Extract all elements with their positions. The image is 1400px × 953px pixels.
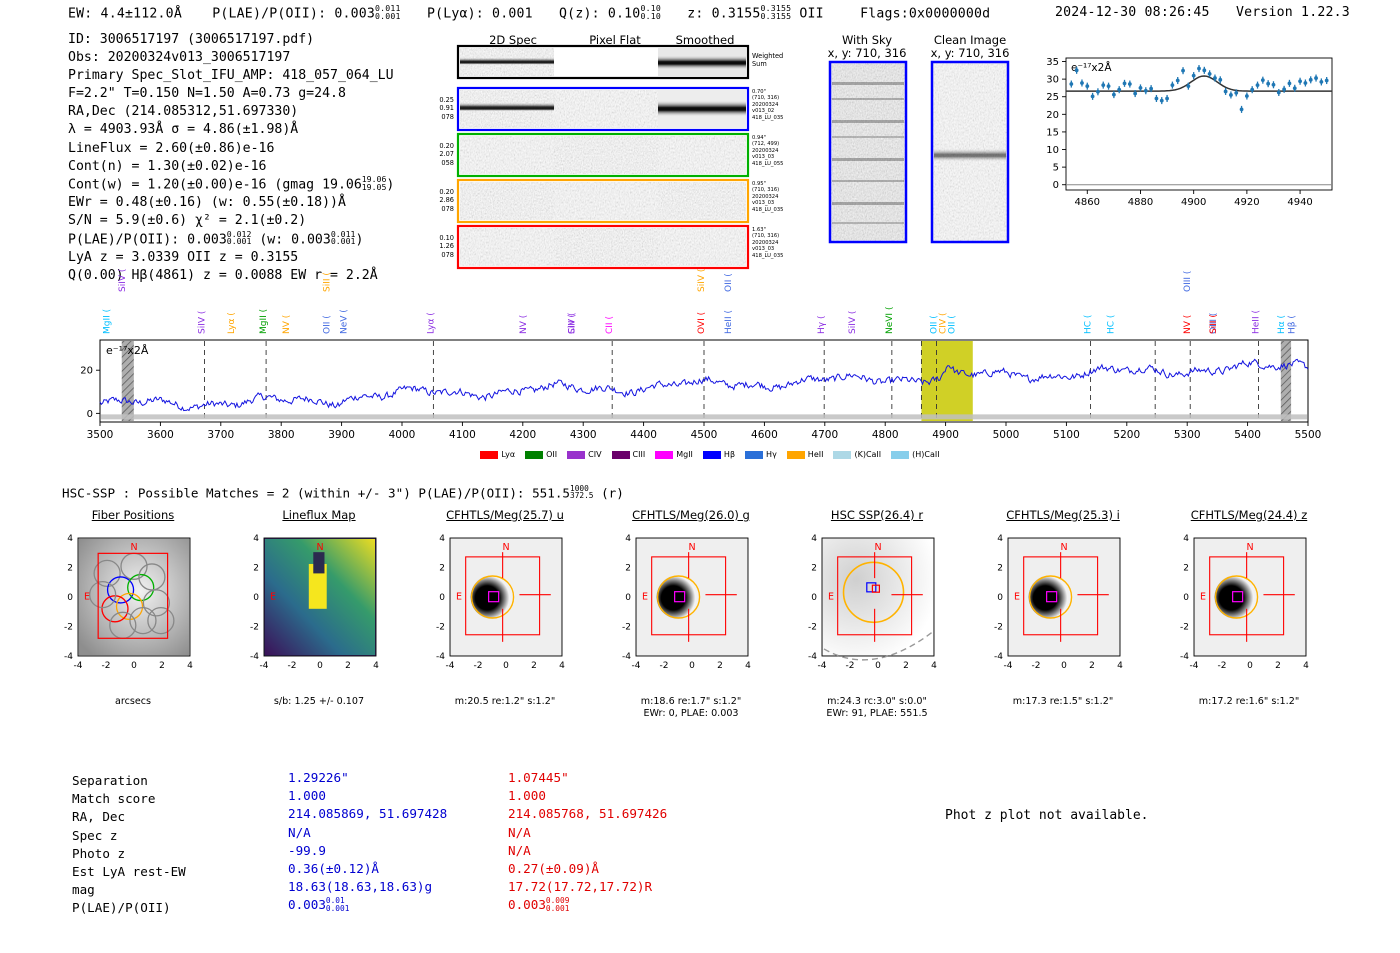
svg-text:4: 4 [559,661,565,671]
svg-text:-4: -4 [1180,652,1189,662]
cutout-panel: Lineflux MapNE-4-4-2-2002244s/b: 1.25 +/… [226,508,412,708]
legend-item: Lyα [480,450,515,459]
legend-label: Hγ [766,450,777,459]
svg-text:-4: -4 [64,652,73,662]
compass-e-label: E [456,591,462,602]
cutout-panel: HSC SSP(26.4) rNE-4-4-2-2002244m:24.3 rc… [784,508,970,720]
cutout-panel: CFHTLS/Meg(25.7) uNE-4-4-2-2002244m:20.5… [412,508,598,708]
svg-text:4300: 4300 [570,429,597,441]
svg-text:0: 0 [439,593,445,603]
legend-label: Lyα [501,450,515,459]
svg-text:4900: 4900 [1181,197,1206,208]
svg-text:-2: -2 [846,661,855,671]
svg-text:-2: -2 [102,661,111,671]
svg-text:4: 4 [625,534,631,544]
svg-text:-2: -2 [474,661,483,671]
svg-text:4: 4 [1117,661,1123,671]
legend-item: HeII [787,450,824,459]
row1-left-1: 2.07 [428,150,454,158]
svg-text:0: 0 [253,593,259,603]
svg-text:2: 2 [531,661,537,671]
svg-text:4600: 4600 [751,429,778,441]
match-label-2: RA, Dec [72,808,186,826]
row1-right-1: (712, 499) [752,141,783,147]
spec2d-right-labels-0: 0.70" (710, 316) 20200324 v013_02 418_LU… [752,89,783,121]
info-plae: P(LAE)/P(OII): 0.0030.0120.001 (w: 0.003… [68,231,394,250]
header-version: Version 1.22.3 [1236,5,1350,20]
legend-item: MgII [655,450,693,459]
info-cont-w-pre: Cont(w) = 1.20(±0.00)e-16 (gmag 19.06 [68,177,362,192]
svg-text:4000: 4000 [389,429,416,441]
line-fit-inset-chart: 0510152025303548604880490049204940e⁻¹⁷x2… [1032,50,1340,228]
row1-left-2: 058 [428,159,454,167]
svg-text:5200: 5200 [1113,429,1140,441]
info-line-2: Primary Spec_Slot_IFU_AMP: 418_057_064_L… [68,67,394,85]
hscssp-post: (r) [601,485,624,500]
emission-label: NeVI ( [885,307,895,334]
svg-text:2: 2 [903,661,909,671]
svg-text:-2: -2 [994,623,1003,633]
svg-text:4900: 4900 [932,429,959,441]
match-label-0: Separation [72,772,186,790]
svg-text:-4: -4 [632,661,641,671]
emission-label: Hβ ( [1288,315,1298,334]
withsky-image [830,62,906,242]
row2-left-1: 2.86 [428,196,454,204]
svg-text:4: 4 [997,534,1003,544]
emission-label: MgII ( [259,309,269,334]
photoz-note: Phot z plot not available. [945,808,1149,823]
svg-text:0: 0 [875,661,881,671]
svg-text:4: 4 [187,661,193,671]
svg-text:-2: -2 [660,661,669,671]
svg-text:3600: 3600 [147,429,174,441]
info-line-6: LineFlux = 2.60(±0.86)e-16 [68,140,394,158]
header-plae-label: P(LAE)/P(OII): 0.003 [212,7,375,22]
svg-text:-2: -2 [808,623,817,633]
svg-text:-4: -4 [250,652,259,662]
spec2d-row-2 [458,180,748,222]
legend-label: MgII [676,450,693,459]
info-cont-w-lo: 19.05 [362,182,387,192]
withsky-subtitle: x, y: 710, 316 [822,46,912,60]
cutout-title: CFHTLS/Meg(25.7) u [412,508,598,524]
legend-item: (H)CaII [891,450,939,459]
svg-text:-4: -4 [1190,661,1199,671]
match1-value-4: -99.9 [288,842,447,860]
legend-swatch [612,451,630,459]
svg-text:4860: 4860 [1075,197,1100,208]
legend-label: (K)CaII [854,450,881,459]
emission-label: OII ( [323,315,333,334]
row0-left-2: 078 [428,113,454,121]
info-cont-w-post: ) [386,177,394,192]
svg-text:-2: -2 [436,623,445,633]
row0-left-0: 0.25 [428,96,454,104]
compass-n-label: N [1060,542,1067,553]
cutout-panel-row: Fiber PositionsNE-4-4-2-2002244arcsecsLi… [40,508,1370,738]
info-ewr: EWr = 0.48(±0.16) (w: 0.55(±0.18))Å [68,194,394,212]
cutout-title: Lineflux Map [226,508,412,524]
svg-text:4: 4 [439,534,445,544]
svg-text:4100: 4100 [449,429,476,441]
svg-text:4: 4 [1183,534,1189,544]
svg-text:30: 30 [1046,75,1059,86]
spec2d-row-weighted [458,46,748,78]
svg-text:2: 2 [1275,661,1281,671]
match2-value-7: 0.0030.0090.001 [508,896,667,914]
cutout-caption-2: EWr: 91, PLAE: 551.5 [784,708,970,720]
match2-value-4: N/A [508,842,667,860]
svg-text:2: 2 [997,564,1003,574]
emission-label: CII ( [605,316,615,334]
row2-left-0: 0.20 [428,188,454,196]
svg-text:0: 0 [1053,180,1059,191]
info-cont-w: Cont(w) = 1.20(±0.00)e-16 (gmag 19.0619.… [68,176,394,195]
match2-value-3: N/A [508,824,667,842]
spec2d-right-labels-2: 0.95" (710, 316) 20200324 v013_03 418_LU… [752,181,783,213]
svg-text:0: 0 [317,661,323,671]
svg-text:e⁻¹⁷x2Å: e⁻¹⁷x2Å [106,344,149,357]
legend-swatch [655,451,673,459]
match2-value-1: 1.000 [508,787,667,805]
match1-value-6: 18.63(18.63,18.63)g [288,878,447,896]
legend-swatch [480,451,498,459]
legend-item: OII [525,450,557,459]
row0-right-4: 418_LU_035 [752,115,783,121]
info-line-7: Cont(n) = 1.30(±0.02)e-16 [68,158,394,176]
cutout-caption-1: arcsecs [40,696,226,708]
row3-left-0: 0.10 [428,234,454,242]
cutout-title: CFHTLS/Meg(24.4) z [1156,508,1342,524]
legend-label: HeII [808,450,824,459]
svg-text:2: 2 [717,661,723,671]
svg-text:-4: -4 [260,661,269,671]
header-ew: EW: 4.4±112.0Å [68,7,182,22]
svg-text:35: 35 [1046,57,1059,68]
info-line-5: λ = 4903.93Å σ = 4.86(±1.98)Å [68,121,394,139]
cleanimage-title: Clean Image [925,33,1015,47]
spec2d-row-3 [458,226,748,268]
svg-text:5: 5 [1053,163,1059,174]
svg-text:-4: -4 [818,661,827,671]
emission-label: SiIV ( [848,311,858,334]
svg-text:10: 10 [1046,145,1059,156]
legend-swatch [891,451,909,459]
withsky-title: With Sky [822,33,912,47]
info-zline: LyA z = 3.0339 OII z = 0.3155 [68,249,394,267]
row3-right-1: (710, 316) [752,233,783,239]
header-z-line: OII [799,7,823,22]
cutout-title: HSC SSP(26.4) r [784,508,970,524]
header-z-label: z: 0.3155 [687,7,760,22]
svg-text:-2: -2 [250,623,259,633]
weighted-sum-line-0: Weighted [752,52,783,60]
header-timestamp: 2024-12-30 08:26:45 Version 1.22.3 [1055,5,1350,20]
object-info-block: ID: 3006517197 (3006517197.pdf) Obs: 202… [68,31,394,285]
header-z-lo: 0.3155 [760,11,791,21]
svg-text:3900: 3900 [328,429,355,441]
emission-label: NeV ( [339,309,349,334]
row2-left-2: 078 [428,205,454,213]
row3-left-2: 078 [428,251,454,259]
compass-e-label: E [1200,591,1206,602]
svg-text:0: 0 [503,661,509,671]
info-line-4: RA,Dec (214.085312,51.697330) [68,103,394,121]
svg-text:-2: -2 [622,623,631,633]
cutout-title: CFHTLS/Meg(26.0) g [598,508,784,524]
svg-text:3500: 3500 [87,429,114,441]
compass-n-label: N [316,542,323,553]
emission-label: HeII ( [1251,310,1261,334]
spec2d-weighted-sum-label: Weighted Sum [752,52,783,69]
weighted-sum-line-1: Sum [752,60,783,68]
compass-e-label: E [642,591,648,602]
svg-text:4: 4 [253,534,259,544]
hscssp-pre: HSC-SSP : Possible Matches = 2 (within +… [62,485,570,500]
info-plae-mid: (w: 0.003 [259,232,330,247]
match2-value-5: 0.27(±0.09)Å [508,860,667,878]
legend-item: CIV [567,450,601,459]
svg-text:0: 0 [689,661,695,671]
match1-value-0: 1.29226" [288,769,447,787]
cutout-panel: CFHTLS/Meg(25.3) iNE-4-4-2-2002244m:17.3… [970,508,1156,708]
legend-label: (H)CaII [912,450,939,459]
match1-value-2: 214.085869, 51.697428 [288,805,447,823]
emission-label: Lyα ( [227,312,237,334]
header-flags: Flags:0x0000000d [860,7,990,22]
svg-text:4940: 4940 [1287,197,1312,208]
svg-text:0: 0 [131,661,137,671]
compass-e-label: E [270,591,276,602]
svg-text:-4: -4 [446,661,455,671]
svg-text:5000: 5000 [993,429,1020,441]
svg-text:2: 2 [159,661,165,671]
spec2d-right-labels-1: 0.94" (712, 499) 20200324 v013_03 418_LU… [752,135,783,167]
cutout-caption-1: m:18.6 re:1.7" s:1.2" [598,696,784,708]
svg-text:20: 20 [80,366,93,377]
svg-text:0: 0 [1061,661,1067,671]
emission-label: SiIV ( [118,269,128,292]
match1-value-7: 0.0030.010.001 [288,896,447,914]
emission-label: SiIV ( [697,269,707,292]
svg-text:-4: -4 [74,661,83,671]
svg-text:4: 4 [1303,661,1309,671]
svg-text:4880: 4880 [1128,197,1153,208]
svg-text:4: 4 [373,661,379,671]
emission-label: OVI ( [697,312,707,334]
full-spectrum-chart: 0203500360037003800390040004100420043004… [60,270,1350,470]
svg-text:2: 2 [625,564,631,574]
cutout-title: Fiber Positions [40,508,226,524]
svg-text:-4: -4 [622,652,631,662]
svg-text:2: 2 [345,661,351,671]
svg-text:0: 0 [811,593,817,603]
svg-text:2: 2 [1089,661,1095,671]
legend-swatch [787,451,805,459]
emission-label: NV ( [282,315,292,334]
emission-label: OII ( [948,315,958,334]
match-column-2: 1.07445" 1.000 214.085768, 51.697426 N/A… [508,769,667,915]
svg-text:2: 2 [439,564,445,574]
svg-text:4700: 4700 [811,429,838,441]
emission-label: OIII ( [1183,271,1193,292]
match1-value-5: 0.36(±0.12)Å [288,860,447,878]
svg-text:3700: 3700 [207,429,234,441]
legend-label: Hβ [724,450,735,459]
cutout-caption-1: m:24.3 rc:3.0" s:0.0" [784,696,970,708]
legend-swatch [525,451,543,459]
legend-swatch [567,451,585,459]
match1-plae-lo: 0.001 [326,904,349,913]
spec2d-left-labels-3: 0.10 1.26 078 [428,234,454,259]
row0-right-1: (710, 316) [752,95,783,101]
legend-label: OII [546,450,557,459]
header-qz-label: Q(z): 0.10 [559,7,640,22]
header-datetime: 2024-12-30 08:26:45 [1055,5,1210,20]
spectrum-legend: LyαOIICIVCIIIMgIIHβHγHeII(K)CaII(H)CaII [430,450,990,459]
legend-swatch [745,451,763,459]
emission-label: MgII ( [103,309,113,334]
svg-text:-2: -2 [1218,661,1227,671]
svg-text:4920: 4920 [1234,197,1259,208]
svg-text:-2: -2 [288,661,297,671]
legend-label: CIII [633,450,646,459]
compass-n-label: N [874,542,881,553]
svg-text:-4: -4 [436,652,445,662]
svg-text:-2: -2 [1032,661,1041,671]
compass-n-label: N [130,542,137,553]
svg-text:4500: 4500 [691,429,718,441]
hscssp-lo: 372.5 [570,491,593,500]
match2-plae-lo: 0.001 [546,904,569,913]
row1-right-4: 418_LU_055 [752,161,783,167]
cutout-caption-1: m:17.2 re:1.6" s:1.2" [1156,696,1342,708]
svg-text:-4: -4 [994,652,1003,662]
svg-text:0: 0 [87,409,93,420]
info-plae-pre: P(LAE)/P(OII): 0.003 [68,232,227,247]
info-line-3: F=2.2" T=0.150 N=1.50 A=0.73 g=24.8 [68,85,394,103]
compass-e-label: E [1014,591,1020,602]
svg-text:4200: 4200 [509,429,536,441]
match2-plae-val: 0.003 [508,897,546,912]
spec2d-panels [458,46,758,246]
svg-text:5500: 5500 [1295,429,1322,441]
emission-label: SiIV ( [197,311,207,334]
spec2d-row-1 [458,134,748,176]
svg-text:2: 2 [1183,564,1189,574]
legend-item: Hβ [703,450,735,459]
svg-text:5400: 5400 [1234,429,1261,441]
match-label-4: Photo z [72,845,186,863]
match1-value-1: 1.000 [288,787,447,805]
compass-n-label: N [1246,542,1253,553]
match-column-1: 1.29226" 1.000 214.085869, 51.697428 N/A… [288,769,447,915]
svg-text:25: 25 [1046,92,1059,103]
spec2d-left-labels-1: 0.20 2.07 058 [428,142,454,167]
svg-text:-2: -2 [1180,623,1189,633]
compass-n-label: N [502,542,509,553]
svg-text:2: 2 [253,564,259,574]
svg-text:0: 0 [1183,593,1189,603]
svg-text:5300: 5300 [1174,429,1201,441]
emission-label: HC ( [1107,315,1117,334]
legend-item: CIII [612,450,646,459]
row3-left-1: 1.26 [428,242,454,250]
svg-text:2: 2 [811,564,817,574]
svg-text:4: 4 [745,661,751,671]
emission-label: SiII ( [323,272,333,292]
match-table-labels: Separation Match score RA, Dec Spec z Ph… [72,772,186,918]
cutout-caption-1: m:17.3 re:1.5" s:1.2" [970,696,1156,708]
info-line-0: ID: 3006517197 (3006517197.pdf) [68,31,394,49]
spec2d-left-labels-2: 0.20 2.86 078 [428,188,454,213]
match1-value-3: N/A [288,824,447,842]
svg-text:-2: -2 [64,623,73,633]
cutout-caption-1: m:20.5 re:1.2" s:1.2" [412,696,598,708]
emission-label: NV ( [519,315,529,334]
match2-value-6: 17.72(17.72,17.72)R [508,878,667,896]
row2-right-4: 418_LU_035 [752,207,783,213]
match-label-5: Est LyA rest-EW [72,863,186,881]
header-plya: P(Lyα): 0.001 [427,7,533,22]
header-summary: EW: 4.4±112.0Å P(LAE)/P(OII): 0.0030.011… [68,5,990,22]
emission-label: OII ( [724,273,734,292]
emission-label: Hα ( [1277,315,1287,334]
cutout-title: CFHTLS/Meg(25.3) i [970,508,1156,524]
match-label-3: Spec z [72,827,186,845]
compass-e-label: E [84,591,90,602]
match-label-6: mag [72,881,186,899]
header-qz-lo: 0.10 [640,11,660,21]
hscssp-summary: HSC-SSP : Possible Matches = 2 (within +… [62,485,624,500]
cleanimage-subtitle: x, y: 710, 316 [925,46,1015,60]
cutout-panel: Fiber PositionsNE-4-4-2-2002244arcsecs [40,508,226,708]
legend-label: CIV [588,450,601,459]
spec2d-row-0 [458,88,748,130]
svg-text:2: 2 [67,564,73,574]
svg-text:20: 20 [1046,110,1059,121]
spec2d-left-labels-0: 0.25 0.91 078 [428,96,454,121]
svg-text:4: 4 [67,534,73,544]
svg-text:4400: 4400 [630,429,657,441]
svg-text:-4: -4 [1004,661,1013,671]
emission-label: Lyα ( [426,312,436,334]
compass-e-label: E [828,591,834,602]
svg-text:0: 0 [1247,661,1253,671]
match-label-7: P(LAE)/P(OII) [72,899,186,917]
info-plae-lo: 0.001 [227,236,252,246]
svg-text:0: 0 [625,593,631,603]
emission-label: SiII ( [1209,314,1219,334]
row3-right-4: 418_LU_035 [752,253,783,259]
svg-text:3800: 3800 [268,429,295,441]
match2-value-2: 214.085768, 51.697426 [508,805,667,823]
cleanimage-image [932,62,1008,242]
svg-text:15: 15 [1046,127,1059,138]
svg-text:0: 0 [997,593,1003,603]
svg-text:0: 0 [67,593,73,603]
cutout-panel: CFHTLS/Meg(24.4) zNE-4-4-2-2002244m:17.2… [1156,508,1342,708]
match-label-1: Match score [72,790,186,808]
row2-right-1: (710, 316) [752,187,783,193]
legend-swatch [833,451,851,459]
spec2d-right-labels-3: 1.63" (710, 316) 20200324 v013_03 418_LU… [752,227,783,259]
info-plae-post: ) [355,232,363,247]
svg-text:-4: -4 [808,652,817,662]
legend-item: (K)CaII [833,450,881,459]
emission-label: Hγ ( [817,316,827,334]
